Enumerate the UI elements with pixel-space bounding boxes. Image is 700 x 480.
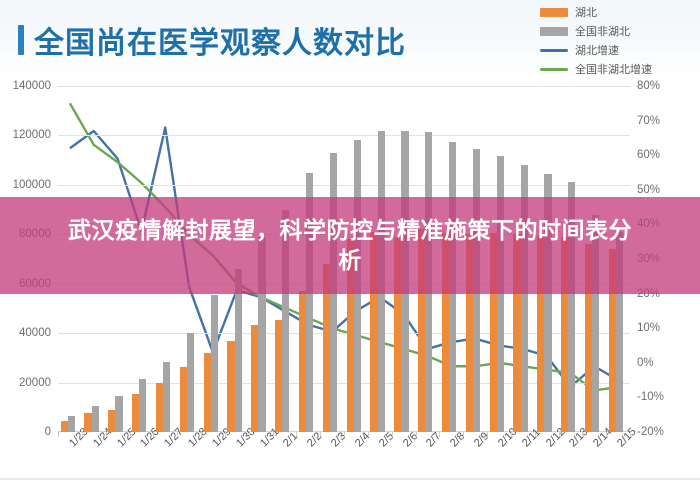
y-axis-right-tick-label: 80% xyxy=(637,80,660,92)
bar-hubei xyxy=(156,383,163,432)
y-axis-left-tick-label: 20000 xyxy=(19,377,51,389)
x-axis-tick-label: 2/2 xyxy=(305,430,324,449)
line-swatch-icon xyxy=(540,49,568,52)
overlay-banner: 武汉疫情解封展望，科学防控与精准施策下的时间表分析 xyxy=(0,197,700,294)
legend-item-label: 全国非湖北增速 xyxy=(575,61,652,77)
x-axis-tick xyxy=(344,432,345,437)
y-axis-left-tick-label: 40000 xyxy=(19,327,51,339)
legend-item-3[interactable]: 全国非湖北增速 xyxy=(540,61,652,77)
legend-item-2[interactable]: 湖北增速 xyxy=(540,42,652,58)
x-axis-tick-label: 2/4 xyxy=(353,430,372,449)
legend-item-1[interactable]: 全国非湖北 xyxy=(540,23,652,39)
x-axis-tick xyxy=(416,432,417,437)
legend-item-label: 湖北 xyxy=(575,4,597,20)
x-axis-tick xyxy=(439,432,440,437)
chart-legend: 湖北全国非湖北湖北增速全国非湖北增速 xyxy=(540,4,652,77)
y-axis-right-tick-label: 10% xyxy=(637,322,660,334)
title-accent-bar xyxy=(18,25,24,55)
x-axis-tick xyxy=(368,432,369,437)
x-axis-tick-label: 2/1 xyxy=(281,430,300,449)
bar-hubei xyxy=(204,353,211,432)
y-axis-left-tick-label: 100000 xyxy=(13,179,51,191)
y-axis-right-tick-label: -10% xyxy=(637,391,664,403)
bar-hubei xyxy=(251,325,258,433)
x-axis-tick xyxy=(606,432,607,437)
x-axis-tick xyxy=(487,432,488,437)
x-axis-tick xyxy=(463,432,464,437)
legend-item-0[interactable]: 湖北 xyxy=(540,4,652,20)
y-axis-right-tick-label: 60% xyxy=(637,149,660,161)
x-axis-tick xyxy=(106,432,107,437)
x-axis-tick xyxy=(296,432,297,437)
bar-hubei xyxy=(275,320,282,432)
bar-hubei xyxy=(227,341,234,432)
x-axis-tick xyxy=(201,432,202,437)
y-axis-left-tick-label: 120000 xyxy=(13,129,51,141)
y-axis-right-tick-label: 70% xyxy=(637,115,660,127)
bar-non-hubei xyxy=(115,396,122,432)
x-axis-tick xyxy=(153,432,154,437)
x-axis-tick xyxy=(177,432,178,437)
bar-hubei xyxy=(108,410,115,432)
x-axis-tick-label: 2/7 xyxy=(424,430,443,449)
bar-hubei xyxy=(180,367,187,432)
x-axis-tick xyxy=(130,432,131,437)
bar-non-hubei xyxy=(211,295,218,432)
page-title: 全国尚在医学观察人数对比 xyxy=(34,18,406,62)
x-axis-tick xyxy=(249,432,250,437)
x-axis-tick-label: 2/5 xyxy=(377,430,396,449)
x-axis-tick-label: 2/3 xyxy=(329,430,348,449)
y-axis-right-tick-label: 50% xyxy=(637,184,660,196)
bar-non-hubei xyxy=(139,379,146,432)
x-axis-tick xyxy=(582,432,583,437)
legend-item-label: 全国非湖北 xyxy=(575,23,630,39)
bar-hubei xyxy=(132,394,139,432)
legend-item-label: 湖北增速 xyxy=(575,42,619,58)
x-axis-tick-label: 2/8 xyxy=(448,430,467,449)
bar-swatch-icon xyxy=(540,27,568,36)
x-axis-tick xyxy=(630,432,631,437)
bar-non-hubei xyxy=(68,416,75,432)
gridline-horizontal xyxy=(58,135,630,136)
y-axis-right-tick-label: -20% xyxy=(637,426,664,438)
overlay-caption: 武汉疫情解封展望，科学防控与精准施策下的时间表分析 xyxy=(60,216,640,275)
x-axis-tick xyxy=(392,432,393,437)
bar-hubei xyxy=(61,421,68,432)
bar-non-hubei xyxy=(187,333,194,432)
x-axis-tick xyxy=(535,432,536,437)
y-axis-left-tick-label: 0 xyxy=(45,426,51,438)
gridline-horizontal xyxy=(58,86,630,87)
x-axis-tick-label: 2/9 xyxy=(472,430,491,449)
x-axis-tick-label: 2/6 xyxy=(401,430,420,449)
bar-hubei xyxy=(299,291,306,432)
x-axis-tick xyxy=(82,432,83,437)
line-swatch-icon xyxy=(540,68,568,71)
x-axis-tick xyxy=(58,432,59,437)
chart-container: 全国尚在医学观察人数对比 湖北全国非湖北湖北增速全国非湖北增速 14000012… xyxy=(0,0,700,480)
x-axis-tick xyxy=(225,432,226,437)
bar-hubei xyxy=(84,413,91,432)
y-axis-right-tick-label: 0% xyxy=(637,357,654,369)
bar-non-hubei xyxy=(163,362,170,432)
x-axis-tick xyxy=(320,432,321,437)
bar-non-hubei xyxy=(92,406,99,432)
x-axis-tick xyxy=(559,432,560,437)
bar-swatch-icon xyxy=(540,8,568,17)
chart-header: 全国尚在医学观察人数对比 xyxy=(18,18,406,62)
x-axis-tick xyxy=(273,432,274,437)
y-axis-left-tick-label: 140000 xyxy=(13,80,51,92)
x-axis-tick xyxy=(511,432,512,437)
